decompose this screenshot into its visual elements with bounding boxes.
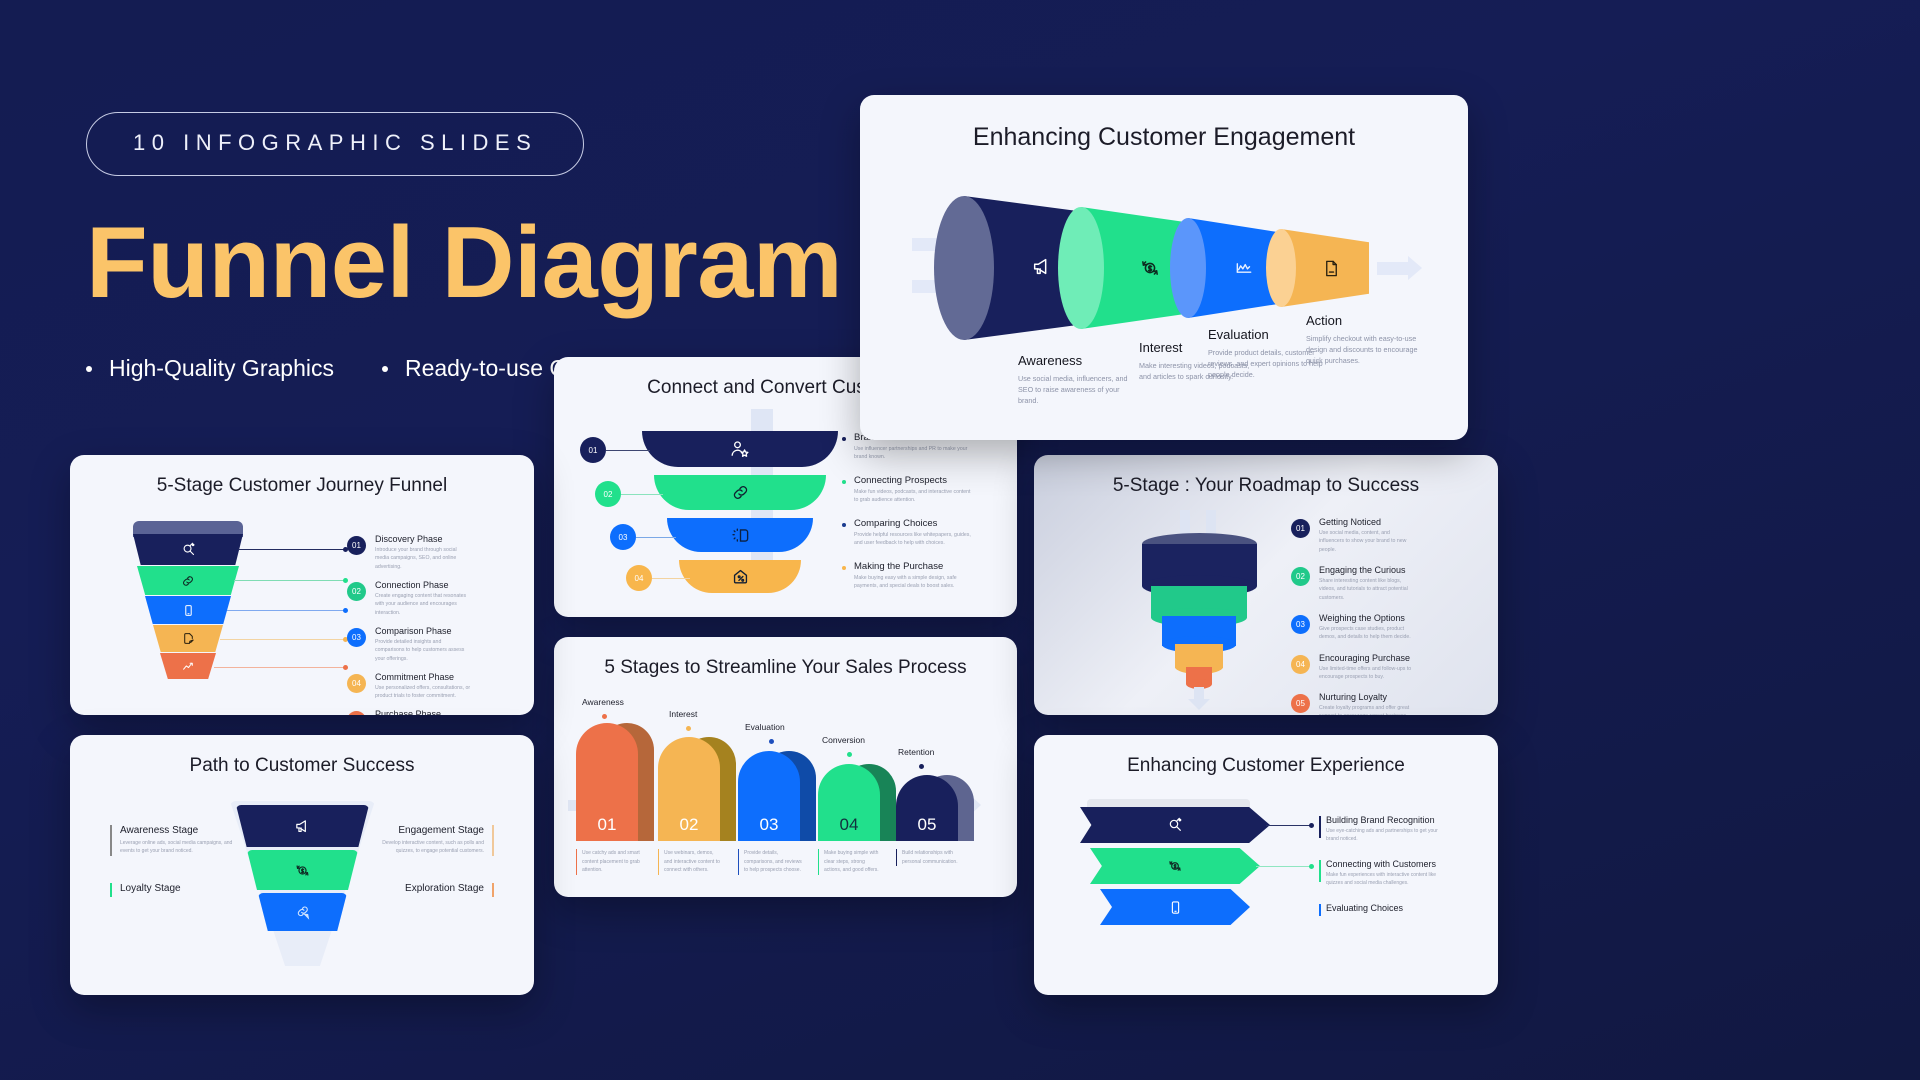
card-customer-engagement[interactable]: Enhancing Customer Engagement	[860, 95, 1468, 440]
list-item[interactable]: Connecting with Customers Make fun exper…	[1326, 859, 1444, 887]
list-item[interactable]: Comparing Choices Provide helpful resour…	[854, 518, 974, 555]
bullet-dot-icon	[382, 366, 388, 372]
stage-desc: Give prospects case studies, product dem…	[1319, 625, 1415, 642]
arch-label: Awareness	[582, 697, 624, 707]
list-item[interactable]: 05 Purchase PhaseStreamline the checkout…	[347, 709, 471, 715]
stage-label: Loyalty Stage	[120, 883, 238, 894]
journey-legend: 01 Discovery PhaseIntroduce your brand t…	[347, 534, 471, 715]
accent-bar	[1319, 816, 1321, 838]
money-refresh-icon	[1167, 858, 1183, 874]
stage-badge-02[interactable]: 02	[595, 481, 621, 507]
stage-desc: Use personalized offers, consultations, …	[375, 684, 471, 701]
megaphone-icon	[294, 818, 311, 835]
stage-label: Evaluating Choices	[1326, 903, 1403, 913]
list-item[interactable]: 01 Getting NoticedUse social media, cont…	[1291, 517, 1415, 554]
arch-desc: Use webinars, demos, and interactive con…	[658, 849, 722, 875]
arch-dot-icon	[919, 764, 924, 769]
list-item: High-Quality Graphics	[86, 355, 334, 382]
list-item[interactable]: Connecting Prospects Make fun videos, po…	[854, 475, 974, 512]
connector-line	[238, 549, 346, 550]
cone-cap-interest	[1058, 207, 1104, 329]
stage-label: Purchase Phase	[375, 709, 471, 715]
arch-number: 02	[658, 815, 720, 835]
slide-canvas: 10 INFOGRAPHIC SLIDES Funnel Diagram Hig…	[0, 0, 1920, 1080]
arch-stage-5[interactable]: 05	[896, 775, 974, 841]
card-title: 5-Stage Customer Journey Funnel	[70, 475, 534, 497]
connector-line	[234, 580, 346, 581]
card-customer-experience[interactable]: Enhancing Customer Experience Building B…	[1034, 735, 1498, 995]
stage-desc: Use social media, influencers, and SEO t…	[1018, 373, 1138, 406]
engagement-label-4[interactable]: Action Simplify checkout with easy-to-us…	[1306, 313, 1422, 366]
stage-label: Connecting Prospects	[854, 475, 974, 486]
stage-badge-03: 03	[1291, 615, 1310, 634]
stage-desc: Share interesting content like blogs, vi…	[1319, 577, 1415, 602]
experience-stage-3[interactable]	[1100, 889, 1250, 925]
stage-badge-05: 05	[347, 711, 366, 715]
funnel-stage-2[interactable]	[137, 566, 239, 595]
stage-label: Exploration Stage	[366, 883, 484, 894]
arch-label: Evaluation	[745, 722, 785, 732]
connector-dot	[1309, 864, 1314, 869]
stage-desc: Use social media, content, and influence…	[1319, 529, 1415, 554]
card-roadmap-to-success[interactable]: 5-Stage : Your Roadmap to Success 01 Get…	[1034, 455, 1498, 715]
stage-desc: Create engaging content that resonates w…	[375, 592, 471, 617]
arch-stage-3[interactable]: 03	[738, 751, 816, 841]
slides-count-badge: 10 INFOGRAPHIC SLIDES	[86, 112, 584, 176]
roadmap-legend: 01 Getting NoticedUse social media, cont…	[1291, 517, 1415, 715]
connect-legend-list: Brand Introduction Use influencer partne…	[854, 432, 974, 597]
stage-label: Getting Noticed	[1319, 517, 1415, 527]
experience-stage-2[interactable]	[1090, 848, 1260, 884]
list-item[interactable]: 01 Discovery PhaseIntroduce your brand t…	[347, 534, 471, 571]
arch-desc: Build relationships with personal commun…	[896, 849, 960, 866]
stage-badge-01[interactable]: 01	[580, 437, 606, 463]
stage-badge-03[interactable]: 03	[610, 524, 636, 550]
funnel-stage-5[interactable]	[160, 653, 216, 679]
arch-stage-2[interactable]: 02	[658, 737, 736, 841]
funnel-segment-3[interactable]	[667, 518, 813, 552]
user-star-icon	[730, 439, 750, 459]
connector-line	[220, 639, 346, 640]
path-stage-2[interactable]	[247, 850, 358, 890]
cone-front-cap	[934, 196, 994, 340]
funnel-segment-4[interactable]	[679, 560, 801, 593]
card-path-to-success[interactable]: Path to Customer Success Awareness Stage…	[70, 735, 534, 995]
stage-badge-04: 04	[1291, 655, 1310, 674]
arch-desc: Make buying simple with clear steps, str…	[818, 849, 882, 875]
arch-dot-icon	[602, 714, 607, 719]
stage-desc: Use influencer partnerships and PR to ma…	[854, 445, 974, 462]
arch-stage-4[interactable]: 04	[818, 764, 896, 841]
stage-label: Nurturing Loyalty	[1319, 692, 1415, 702]
inflow-arrow-2	[1206, 510, 1216, 536]
stage-desc: Simplify checkout with easy-to-use desig…	[1306, 333, 1422, 366]
arch-number: 03	[738, 815, 800, 835]
stage-desc: Create loyalty programs and offer great …	[1319, 704, 1415, 715]
link-icon	[731, 483, 750, 502]
arch-stage-1[interactable]: 01	[576, 723, 654, 841]
link-icon	[181, 574, 195, 588]
path-label-left-1[interactable]: Awareness Stage Leverage online ads, soc…	[110, 825, 238, 856]
list-item[interactable]: 03 Weighing the OptionsGive prospects ca…	[1291, 613, 1415, 642]
arch-desc: Use catchy ads and smart content placeme…	[576, 849, 640, 875]
connector-line	[636, 537, 676, 538]
outflow-arrow-head	[1188, 699, 1210, 710]
stage-badge-04: 04	[347, 674, 366, 693]
path-stage-1[interactable]	[236, 805, 369, 847]
arch-label: Interest	[669, 709, 697, 719]
chart-line-icon	[1233, 257, 1255, 279]
funnel-segment-1[interactable]	[642, 431, 838, 467]
stage-label: Connecting with Customers	[1326, 859, 1444, 869]
stage-label: Awareness	[1018, 353, 1138, 368]
list-item[interactable]: Making the Purchase Make buying easy wit…	[854, 561, 974, 591]
arch-number: 05	[896, 815, 958, 835]
growth-chart-icon	[182, 660, 195, 673]
connector-line	[621, 494, 663, 495]
arch-dot-icon	[686, 726, 691, 731]
path-stage-3[interactable]	[258, 893, 347, 931]
document-icon	[1320, 257, 1342, 279]
stage-desc: Make fun videos, podcasts, and interacti…	[854, 488, 974, 505]
stage-label: Comparing Choices	[854, 518, 974, 529]
list-item[interactable]: 03 Comparison PhaseProvide detailed insi…	[347, 626, 471, 663]
stage-dot-icon	[842, 566, 846, 570]
stage-label: Commitment Phase	[375, 672, 471, 682]
stage-label: Comparison Phase	[375, 626, 471, 636]
cone-cap-action	[1266, 229, 1296, 307]
experience-stage-1[interactable]	[1080, 807, 1270, 843]
connector-line	[214, 667, 346, 668]
stage-label: Discovery Phase	[375, 534, 471, 544]
stage-label: Making the Purchase	[854, 561, 974, 572]
arch-dot-icon	[847, 752, 852, 757]
path-label-right-1[interactable]: Engagement Stage Develop interactive con…	[366, 825, 494, 856]
stage-badge-05: 05	[1291, 694, 1310, 713]
stage-badge-02: 02	[1291, 567, 1310, 586]
outflow-arrow	[1377, 262, 1409, 275]
stage-badge-02: 02	[347, 582, 366, 601]
accent-bar	[1319, 860, 1321, 882]
search-target-icon	[181, 542, 196, 557]
arch-label: Retention	[898, 747, 934, 757]
stage-label: Weighing the Options	[1319, 613, 1415, 623]
file-edit-icon	[182, 632, 195, 645]
funnel-stage-3[interactable]	[145, 596, 231, 624]
stage-desc: Introduce your brand through social medi…	[375, 546, 471, 571]
stage-badge-04[interactable]: 04	[626, 565, 652, 591]
stage-label: Engagement Stage	[366, 825, 484, 836]
stage-label: Building Brand Recognition	[1326, 815, 1444, 825]
megaphone-icon	[1030, 255, 1054, 279]
card-title: 5-Stage : Your Roadmap to Success	[1034, 475, 1498, 497]
connector-line	[227, 610, 346, 611]
home-percent-icon	[731, 567, 750, 586]
arch-desc: Provide details, comparisons, and review…	[738, 849, 802, 875]
stage-dot-icon	[842, 523, 846, 527]
stage-desc: Use eye-catching ads and partnerships to…	[1326, 827, 1444, 843]
cone-cap-evaluation	[1170, 218, 1206, 318]
card-title: 5 Stages to Streamline Your Sales Proces…	[554, 657, 1017, 679]
connector-line	[1266, 825, 1312, 826]
card-customer-journey[interactable]: 5-Stage Customer Journey Funnel	[70, 455, 534, 715]
stage-label: Action	[1306, 313, 1422, 328]
card-title: Enhancing Customer Engagement	[860, 123, 1468, 152]
stage-desc: Make fun experiences with interactive co…	[1326, 871, 1444, 887]
list-item[interactable]: 04 Commitment PhaseUse personalized offe…	[347, 672, 471, 701]
bullet-label: High-Quality Graphics	[109, 355, 334, 382]
stage-dot-icon	[842, 437, 846, 441]
path-label-right-2[interactable]: Exploration Stage	[366, 883, 494, 897]
list-item[interactable]: 05 Nurturing LoyaltyCreate loyalty progr…	[1291, 692, 1415, 715]
mobile-icon	[1168, 900, 1183, 915]
arch-number: 01	[576, 815, 638, 835]
stage-badge-01: 01	[347, 536, 366, 555]
card-sales-process[interactable]: 5 Stages to Streamline Your Sales Proces…	[554, 637, 1017, 897]
card-title: Path to Customer Success	[70, 755, 534, 777]
stage-label: Encouraging Purchase	[1319, 653, 1415, 663]
list-item[interactable]: Building Brand Recognition Use eye-catch…	[1326, 815, 1444, 843]
arch-dot-icon	[769, 739, 774, 744]
card-title: Enhancing Customer Experience	[1034, 755, 1498, 777]
arch-number: 04	[818, 815, 880, 835]
funnel-stage-1[interactable]	[133, 534, 243, 565]
money-refresh-icon	[294, 862, 311, 879]
stage-desc: Make buying easy with a simple design, s…	[854, 574, 974, 591]
connector-dot	[1309, 823, 1314, 828]
stage-desc: Develop interactive content, such as pol…	[366, 839, 484, 856]
inflow-arrow-1	[1180, 510, 1190, 536]
bullet-dot-icon	[86, 366, 92, 372]
stage-desc: Provide detailed insights and comparison…	[375, 638, 471, 663]
money-refresh-icon	[1138, 256, 1162, 280]
arch-label: Conversion	[822, 735, 865, 745]
funnel-segment-2[interactable]	[654, 475, 826, 510]
engagement-label-1[interactable]: Awareness Use social media, influencers,…	[1018, 353, 1138, 406]
accent-bar	[1319, 904, 1321, 916]
stage-badge-01: 01	[1291, 519, 1310, 538]
stage-desc: Provide helpful resources like whitepape…	[854, 531, 974, 548]
connector-line	[606, 450, 650, 451]
stage-dot-icon	[842, 480, 846, 484]
connector-line	[1256, 866, 1312, 867]
funnel-stage-4[interactable]	[153, 625, 223, 652]
mobile-icon	[182, 604, 195, 617]
stage-label: Awareness Stage	[120, 825, 238, 836]
connector-line	[652, 578, 690, 579]
stage-label: Connection Phase	[375, 580, 471, 590]
list-item[interactable]: 04 Encouraging PurchaseUse limited-time …	[1291, 653, 1415, 682]
compare-icon	[731, 526, 750, 545]
stage-desc: Use limited-time offers and follow-ups t…	[1319, 665, 1415, 682]
list-item[interactable]: 02 Connection PhaseCreate engaging conte…	[347, 580, 471, 617]
stage-label: Engaging the Curious	[1319, 565, 1415, 575]
stage-badge-03: 03	[347, 628, 366, 647]
list-item[interactable]: 02 Engaging the CuriousShare interesting…	[1291, 565, 1415, 602]
link-cursor-icon	[295, 904, 311, 920]
stage-desc: Leverage online ads, social media campai…	[120, 839, 238, 856]
path-label-left-2[interactable]: Loyalty Stage	[110, 883, 238, 897]
list-item[interactable]: Evaluating Choices	[1326, 903, 1403, 915]
search-target-icon	[1167, 817, 1183, 833]
